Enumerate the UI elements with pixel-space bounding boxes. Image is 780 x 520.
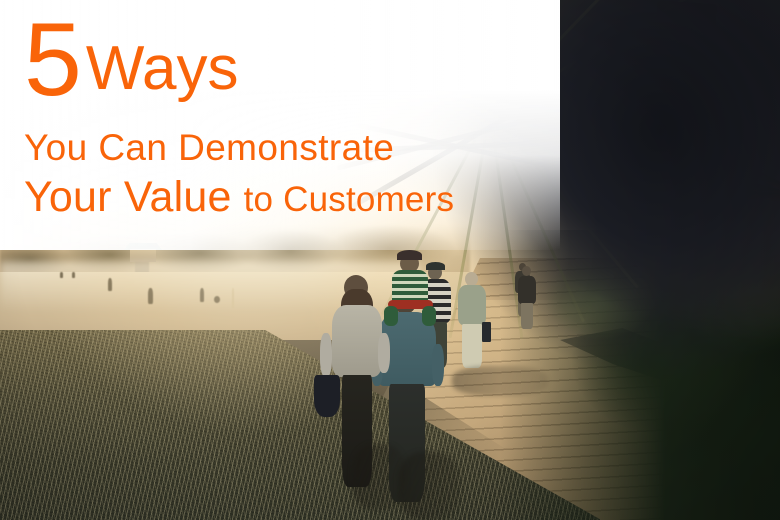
headline-line-1: 5Ways — [24, 8, 239, 112]
headline-line-3-tail: to Customers — [244, 180, 455, 219]
headline-line-3-strong: Your Value — [24, 173, 232, 221]
promo-banner: 5Ways You Can Demonstrate Your Valueto C… — [0, 0, 780, 520]
headline-number: 5 — [24, 2, 80, 118]
shadow-man — [398, 452, 460, 520]
headline-line-3: Your Valueto Customers — [24, 176, 454, 219]
shadow-group — [452, 366, 548, 396]
headline-word-ways: Ways — [86, 34, 239, 103]
headline-line-2: You Can Demonstrate — [24, 129, 394, 166]
